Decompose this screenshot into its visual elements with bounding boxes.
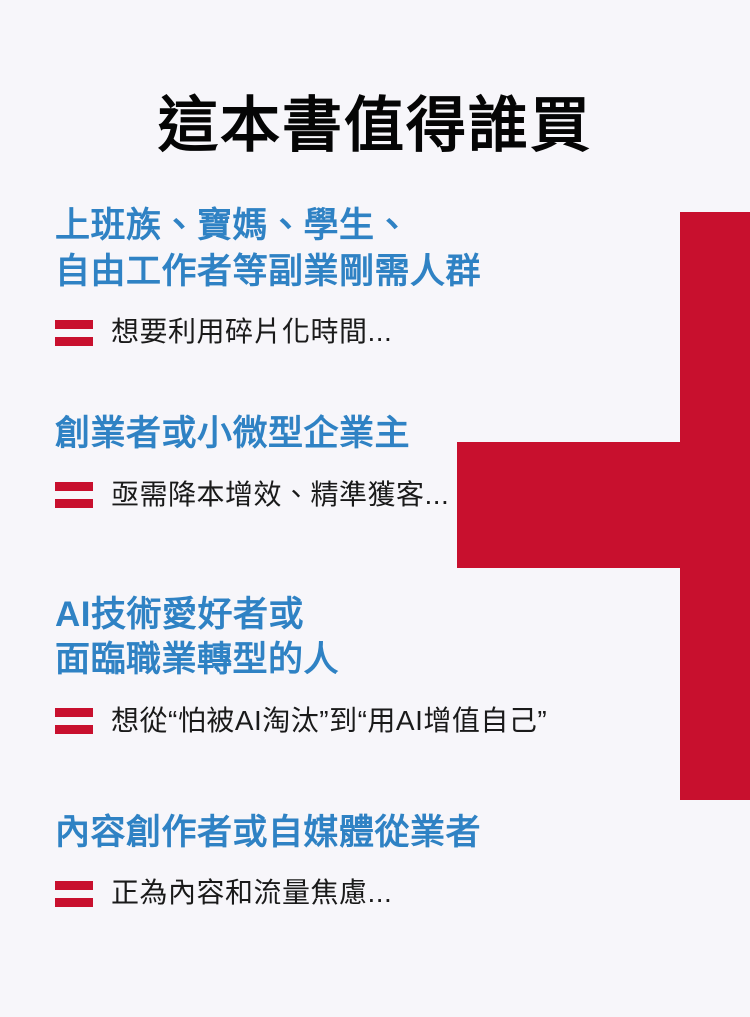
bullet-row: 想從“怕被AI淘汰”到“用AI增值自己” <box>55 703 715 738</box>
double-dash-marker-icon <box>55 881 93 907</box>
section-heading: 創業者或小微型企業主 <box>55 411 715 457</box>
bullet-row: 亟需降本增效、精準獲客... <box>55 477 715 512</box>
bullet-text: 正為內容和流量焦慮... <box>111 875 392 910</box>
bullet-text: 想要利用碎片化時間... <box>111 314 392 349</box>
section-heading: AI技術愛好者或 面臨職業轉型的人 <box>55 592 715 683</box>
audience-section: 上班族、寶媽、學生、 自由工作者等副業剛需人群 想要利用碎片化時間... <box>55 203 715 349</box>
poster-canvas: 這本書值得誰買 上班族、寶媽、學生、 自由工作者等副業剛需人群 想要利用碎片化時… <box>0 0 750 1017</box>
double-dash-marker-icon <box>55 708 93 734</box>
double-dash-marker-icon <box>55 482 93 508</box>
page-title: 這本書值得誰買 <box>0 92 750 159</box>
bullet-text: 想從“怕被AI淘汰”到“用AI增值自己” <box>111 703 547 738</box>
bullet-text: 亟需降本增效、精準獲客... <box>111 477 449 512</box>
bullet-row: 想要利用碎片化時間... <box>55 314 715 349</box>
section-heading: 上班族、寶媽、學生、 自由工作者等副業剛需人群 <box>55 203 715 294</box>
audience-section-list: 上班族、寶媽、學生、 自由工作者等副業剛需人群 想要利用碎片化時間... 創業者… <box>55 203 715 910</box>
audience-section: 創業者或小微型企業主 亟需降本增效、精準獲客... <box>55 411 715 512</box>
audience-section: AI技術愛好者或 面臨職業轉型的人 想從“怕被AI淘汰”到“用AI增值自己” <box>55 592 715 738</box>
bullet-row: 正為內容和流量焦慮... <box>55 875 715 910</box>
audience-section: 內容創作者或自媒體從業者 正為內容和流量焦慮... <box>55 810 715 911</box>
section-heading: 內容創作者或自媒體從業者 <box>55 810 715 856</box>
double-dash-marker-icon <box>55 320 93 346</box>
